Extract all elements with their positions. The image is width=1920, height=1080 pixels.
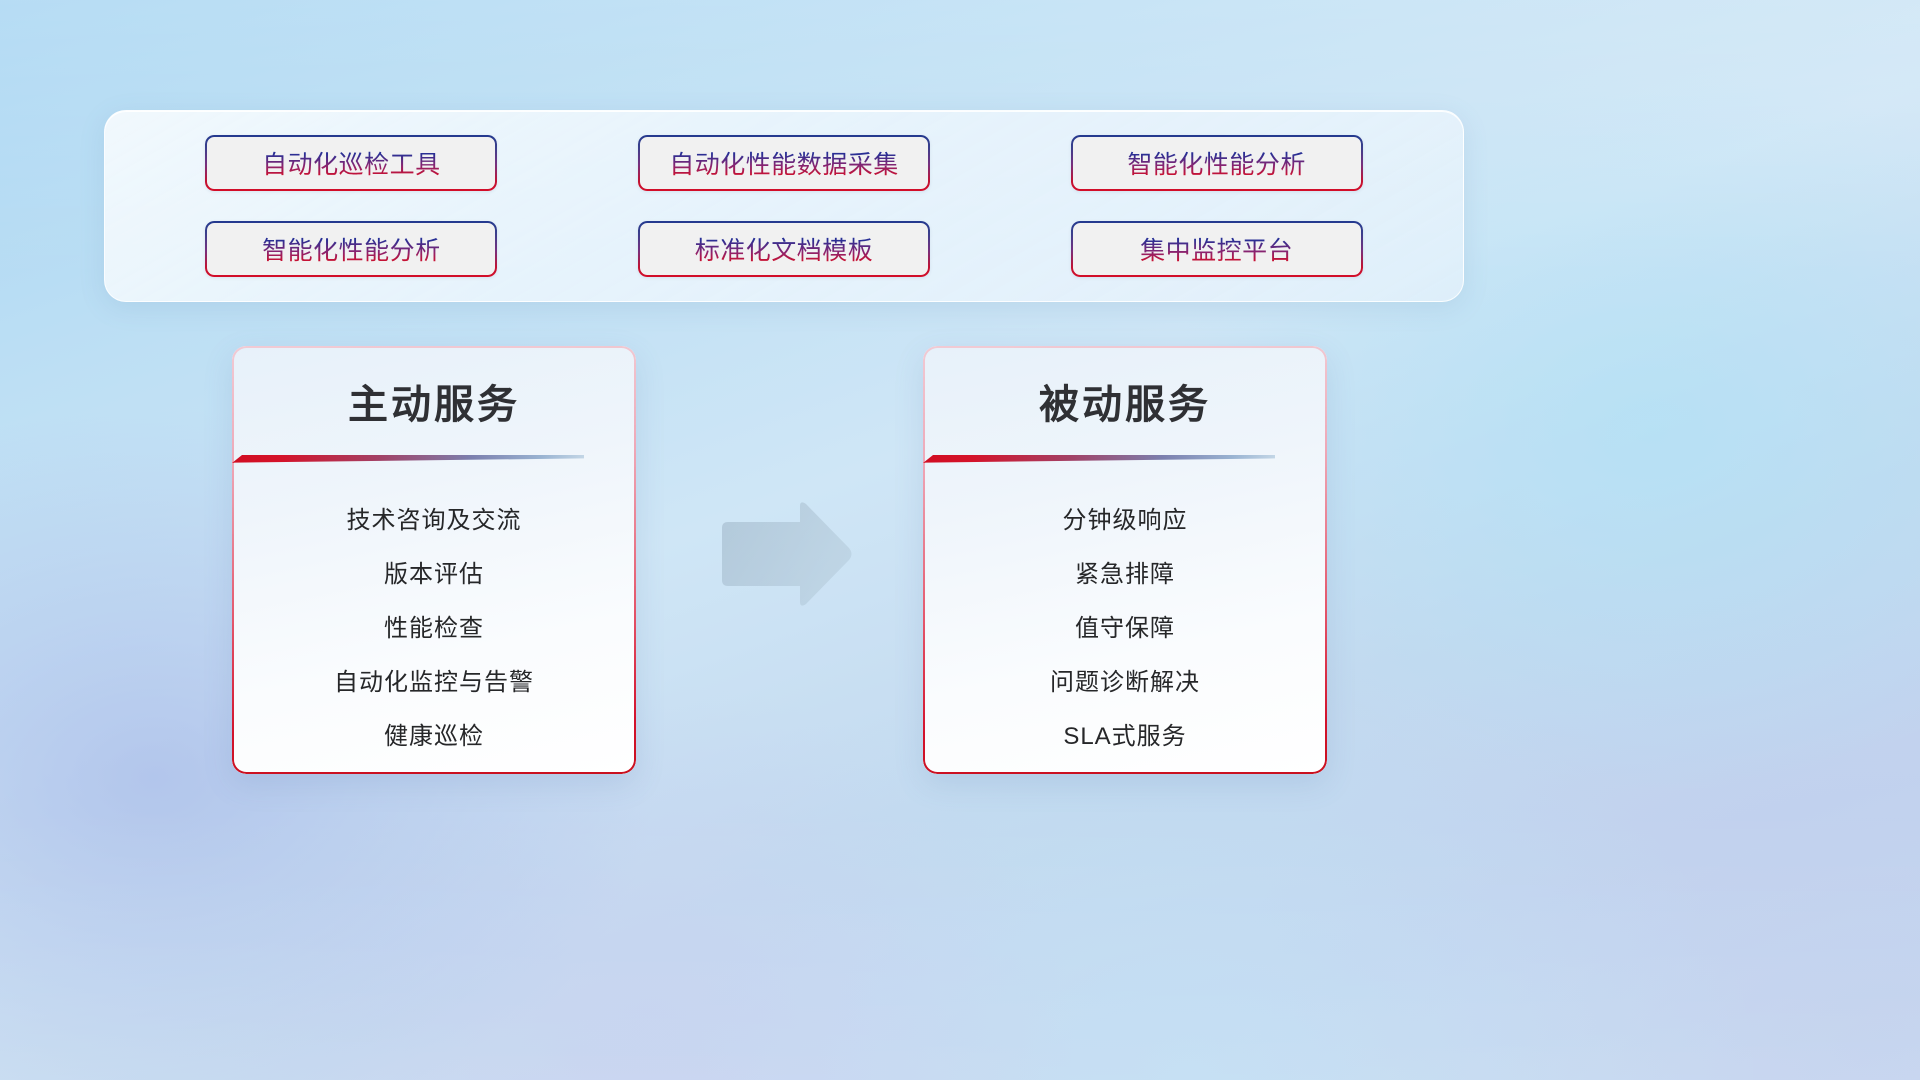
list-item: 性能检查 — [232, 602, 636, 656]
service-item-list: 分钟级响应 紧急排障 值守保障 问题诊断解决 SLA式服务 — [923, 494, 1327, 764]
capability-tag[interactable]: 自动化性能数据采集 — [638, 135, 930, 191]
list-item: 自动化监控与告警 — [232, 656, 636, 710]
list-item: 分钟级响应 — [923, 494, 1327, 548]
card-divider — [923, 452, 1275, 465]
list-item: 紧急排障 — [923, 548, 1327, 602]
capability-tag[interactable]: 自动化巡检工具 — [205, 135, 497, 191]
capability-tag[interactable]: 智能化性能分析 — [1071, 135, 1363, 191]
capability-tag-panel: 自动化巡检工具 自动化性能数据采集 智能化性能分析 智能化性能分析 标准化文档模… — [104, 110, 1464, 302]
service-card-active: 主动服务 技术咨询及交流 版本评估 性能检查 自动化监控与告警 健康巡检 — [232, 346, 636, 774]
list-item: SLA式服务 — [923, 710, 1327, 764]
card-title: 被动服务 — [923, 372, 1327, 430]
capability-tag-label: 自动化性能数据采集 — [669, 145, 899, 181]
service-card-passive: 被动服务 分钟级响应 紧急排障 值守保障 问题诊断解决 SLA式服务 — [923, 346, 1327, 774]
capability-tag-label: 集中监控平台 — [1140, 231, 1293, 267]
list-item: 值守保障 — [923, 602, 1327, 656]
capability-tag[interactable]: 标准化文档模板 — [638, 221, 930, 277]
card-divider — [232, 452, 584, 465]
capability-tag[interactable]: 集中监控平台 — [1071, 221, 1363, 277]
capability-tag-label: 标准化文档模板 — [695, 231, 874, 267]
capability-tag-label: 智能化性能分析 — [1127, 145, 1306, 181]
list-item: 技术咨询及交流 — [232, 494, 636, 548]
service-item-list: 技术咨询及交流 版本评估 性能检查 自动化监控与告警 健康巡检 — [232, 494, 636, 764]
list-item: 问题诊断解决 — [923, 656, 1327, 710]
capability-tag-label: 智能化性能分析 — [262, 231, 441, 267]
list-item: 健康巡检 — [232, 710, 636, 764]
capability-tag[interactable]: 智能化性能分析 — [205, 221, 497, 277]
list-item: 版本评估 — [232, 548, 636, 602]
capability-tag-label: 自动化巡检工具 — [262, 145, 441, 181]
card-title: 主动服务 — [232, 372, 636, 430]
arrow-right-icon — [716, 500, 854, 608]
slide-canvas: 自动化巡检工具 自动化性能数据采集 智能化性能分析 智能化性能分析 标准化文档模… — [0, 0, 1920, 1080]
